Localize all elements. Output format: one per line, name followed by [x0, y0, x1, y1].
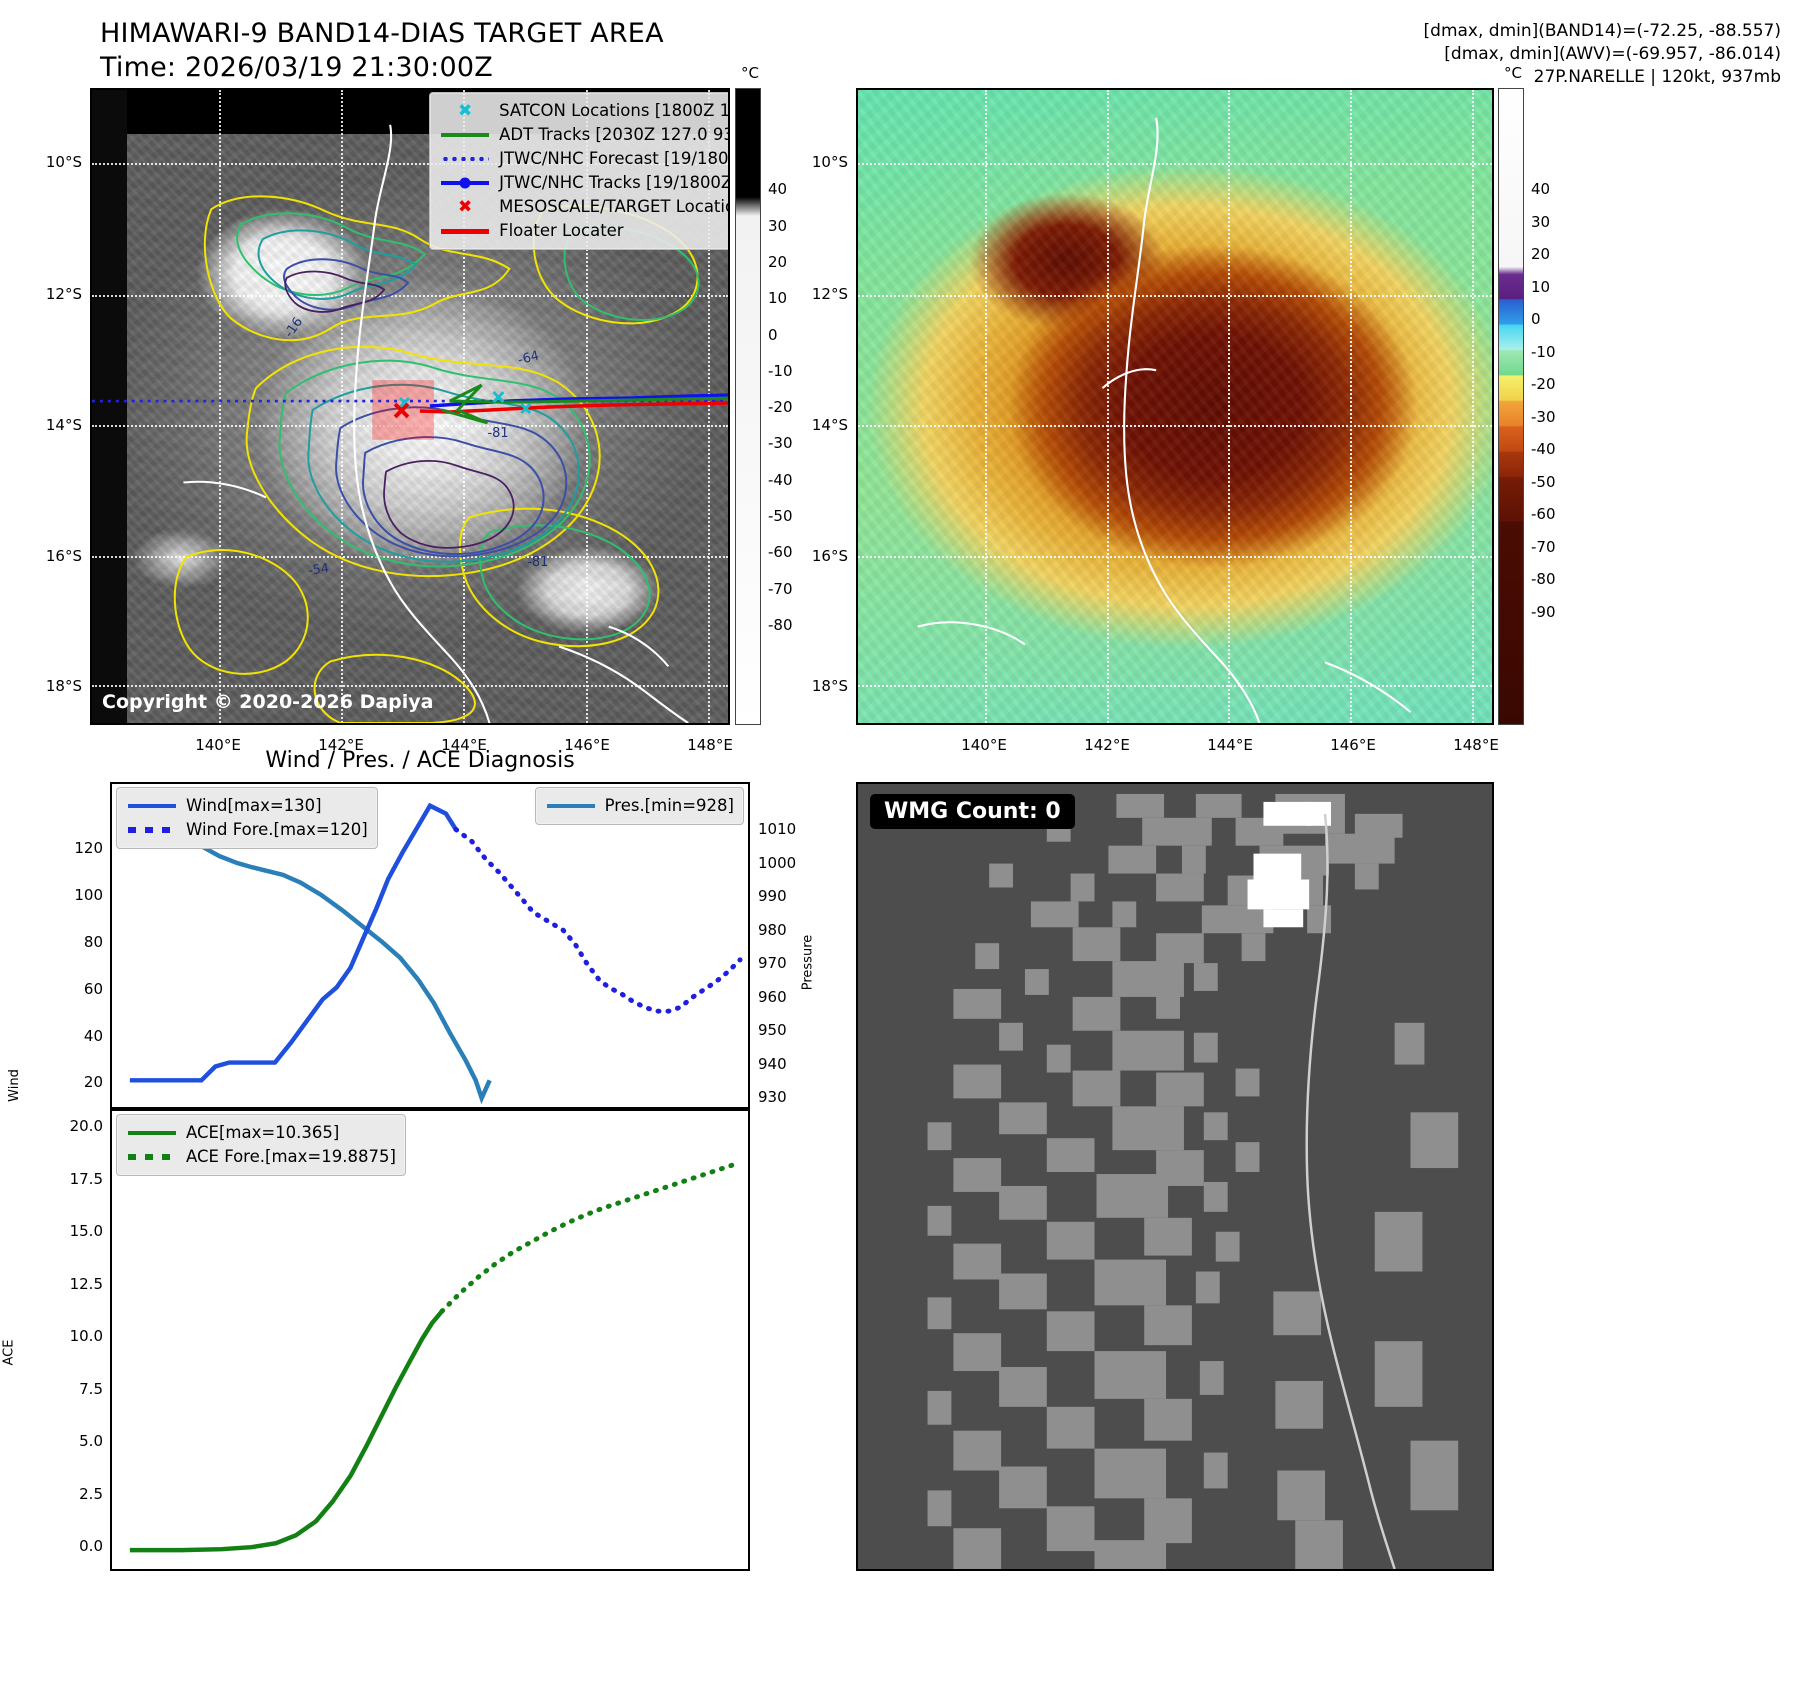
ir-colorbar[interactable]: 40 30 20 10 0 -10 -20 -30 -40 -50 -60 -7…	[735, 88, 761, 725]
ir-colorbar-tick: 0	[761, 326, 778, 344]
awv-colorbar-tick: -40	[1524, 440, 1556, 458]
svg-text:-81: -81	[527, 555, 548, 570]
awv-colorbar-tick: -50	[1524, 473, 1556, 491]
awv-colorbar-unit: °C	[1504, 64, 1522, 82]
x-marker-icon: ✖	[439, 103, 491, 120]
ir-colorbar-tick: -20	[761, 398, 793, 416]
legend-label: Wind Fore.[max=120]	[186, 818, 368, 842]
ir-lon-label: 140°E	[195, 736, 241, 754]
x-marker-icon: ✖	[439, 199, 491, 216]
solid-line-icon	[439, 229, 491, 234]
svg-text:-64: -64	[517, 348, 541, 368]
pressure-ytick: 1010	[758, 820, 796, 838]
legend-item-pressure[interactable]: Pres.[min=928]	[545, 794, 734, 818]
legend-item-ace-forecast[interactable]: ACE Fore.[max=19.8875]	[126, 1145, 396, 1169]
ir-colorbar-tick: 20	[761, 253, 787, 271]
pressure-series	[130, 816, 490, 1099]
wmg-panel[interactable]: WMG Count: 0	[856, 782, 1494, 1571]
legend-label: MESOSCALE/TARGET Location	[499, 195, 728, 219]
solid-line-icon	[126, 1131, 178, 1136]
awv-lat-label: 14°S	[786, 416, 848, 434]
awv-coastline-overlay	[858, 90, 1492, 723]
pressure-axis-title: Pressure	[800, 935, 815, 991]
ace-forecast-series	[442, 1163, 740, 1312]
ir-lon-label: 148°E	[687, 736, 733, 754]
legend-label: JTWC/NHC Tracks [19/1800Z]	[499, 171, 728, 195]
wind-ytick: 80	[48, 933, 103, 951]
ir-image: -64 -81 -16 -54 -81	[92, 90, 728, 723]
awv-lon-label: 146°E	[1330, 736, 1376, 754]
ace-plot	[112, 1111, 748, 1569]
awv-colorbar-tick: 20	[1524, 245, 1550, 263]
pressure-ytick: 960	[758, 988, 787, 1006]
awv-colorbar[interactable]: 40 30 20 10 0 -10 -20 -30 -40 -50 -60 -7…	[1498, 88, 1524, 725]
legend-label: ADT Tracks [2030Z 127.0 931.1]	[499, 123, 728, 147]
awv-colorbar-tick: -10	[1524, 343, 1556, 361]
awv-colorbar-tick: -20	[1524, 375, 1556, 393]
header-stat-awv: [dmax, dmin](AWV)=(-69.957, -86.014)	[1081, 43, 1781, 66]
wind-ytick: 20	[48, 1073, 103, 1091]
awv-lat-label: 16°S	[786, 547, 848, 565]
ir-colorbar-tick: -30	[761, 434, 793, 452]
wind-ytick: 100	[48, 886, 103, 904]
awv-lat-label: 12°S	[786, 285, 848, 303]
wind-ytick: 60	[48, 980, 103, 998]
wind-axis-title: Wind	[7, 1069, 22, 1102]
awv-colorbar-tick: -30	[1524, 408, 1556, 426]
ace-chart[interactable]: ACE[max=10.365] ACE Fore.[max=19.8875]	[110, 1109, 750, 1571]
legend-label: Wind[max=130]	[186, 794, 322, 818]
legend-item-adt[interactable]: ADT Tracks [2030Z 127.0 931.1]	[439, 123, 728, 147]
copyright-text: Copyright © 2020-2026 Dapiya	[102, 691, 433, 713]
ir-lat-label: 12°S	[20, 285, 82, 303]
solid-line-icon	[545, 804, 597, 809]
solid-line-icon	[439, 133, 491, 138]
legend-item-mesoscale[interactable]: ✖ MESOSCALE/TARGET Location	[439, 195, 728, 219]
ace-ytick: 15.0	[38, 1222, 103, 1240]
wmg-image: WMG Count: 0	[858, 784, 1492, 1569]
ace-series	[130, 1311, 442, 1550]
legend-item-floater[interactable]: Floater Locater	[439, 219, 728, 243]
legend-label: SATCON Locations [1800Z 135 929]	[499, 99, 728, 123]
awv-satellite-panel[interactable]	[856, 88, 1494, 725]
dotted-line-icon	[439, 157, 491, 161]
ace-ytick: 5.0	[38, 1432, 103, 1450]
ir-lat-label: 10°S	[20, 153, 82, 171]
pressure-ytick: 980	[758, 921, 787, 939]
pressure-legend[interactable]: Pres.[min=928]	[535, 787, 744, 825]
wind-forecast-series	[456, 829, 740, 1011]
awv-colorbar-tick: -60	[1524, 505, 1556, 523]
awv-lon-label: 148°E	[1453, 736, 1499, 754]
ace-legend[interactable]: ACE[max=10.365] ACE Fore.[max=19.8875]	[116, 1114, 406, 1176]
dotted-line-icon	[126, 1154, 178, 1160]
ir-colorbar-unit: °C	[741, 64, 759, 82]
ir-colorbar-tick: 10	[761, 289, 787, 307]
ir-satellite-panel[interactable]: -64 -81 -16 -54 -81	[90, 88, 730, 725]
awv-colorbar-tick: 30	[1524, 213, 1550, 231]
ir-colorbar-tick: -40	[761, 471, 793, 489]
dotted-line-icon	[126, 827, 178, 833]
legend-label: JTWC/NHC Forecast [19/1800Z]	[499, 147, 728, 171]
legend-item-wind-forecast[interactable]: Wind Fore.[max=120]	[126, 818, 368, 842]
legend-label: Floater Locater	[499, 219, 624, 243]
awv-image	[858, 90, 1492, 723]
pressure-ytick: 950	[758, 1021, 787, 1039]
legend-item-satcon[interactable]: ✖ SATCON Locations [1800Z 135 929]	[439, 99, 728, 123]
pressure-ytick: 930	[758, 1088, 787, 1106]
awv-colorbar-tick: -70	[1524, 538, 1556, 556]
ace-ytick: 0.0	[38, 1537, 103, 1555]
svg-text:-54: -54	[307, 561, 330, 579]
solid-line-icon	[126, 804, 178, 809]
line-with-dot-icon	[439, 181, 491, 185]
svg-text:-81: -81	[488, 426, 509, 441]
ir-colorbar-tick: 30	[761, 217, 787, 235]
ir-colorbar-tick: -80	[761, 616, 793, 634]
ir-colorbar-tick: -70	[761, 580, 793, 598]
wmg-cells	[858, 784, 1492, 1569]
awv-colorbar-tick: -80	[1524, 570, 1556, 588]
awv-colorbar-tick: 0	[1524, 310, 1541, 328]
awv-colorbar-tick: 10	[1524, 278, 1550, 296]
awv-lon-label: 144°E	[1207, 736, 1253, 754]
pressure-ytick: 1000	[758, 854, 796, 872]
awv-lon-label: 140°E	[961, 736, 1007, 754]
ir-legend[interactable]: ✖ SATCON Locations [1800Z 135 929] ADT T…	[429, 92, 728, 250]
ace-ytick: 2.5	[38, 1485, 103, 1503]
svg-text:-16: -16	[282, 315, 306, 341]
awv-lat-label: 10°S	[786, 153, 848, 171]
ir-colorbar-tick: -50	[761, 507, 793, 525]
pressure-ytick: 940	[758, 1055, 787, 1073]
wind-ytick: 120	[48, 839, 103, 857]
header-stats: [dmax, dmin](BAND14)=(-72.25, -88.557) […	[1081, 20, 1781, 89]
ace-ytick: 10.0	[38, 1327, 103, 1345]
awv-colorbar-tick: 40	[1524, 180, 1550, 198]
wind-ytick: 40	[48, 1027, 103, 1045]
legend-item-jtwc-forecast[interactable]: JTWC/NHC Forecast [19/1800Z]	[439, 147, 728, 171]
legend-label: ACE Fore.[max=19.8875]	[186, 1145, 396, 1169]
ace-ytick: 20.0	[38, 1117, 103, 1135]
awv-lat-label: 18°S	[786, 677, 848, 695]
legend-item-wind[interactable]: Wind[max=130]	[126, 794, 368, 818]
awv-colorbar-tick: -90	[1524, 603, 1556, 621]
ir-lat-label: 14°S	[20, 416, 82, 434]
ir-lat-label: 18°S	[20, 677, 82, 695]
wmg-count-badge: WMG Count: 0	[870, 794, 1075, 829]
page-title-line2: Time: 2026/03/19 21:30:00Z	[100, 52, 493, 83]
ir-lat-label: 16°S	[20, 547, 82, 565]
awv-lon-label: 142°E	[1084, 736, 1130, 754]
legend-label: ACE[max=10.365]	[186, 1121, 339, 1145]
ace-axis-title: ACE	[1, 1340, 16, 1366]
ace-ytick: 17.5	[38, 1170, 103, 1188]
ir-colorbar-tick: 40	[761, 180, 787, 198]
header-storm-info: 27P.NARELLE | 120kt, 937mb	[1081, 66, 1781, 89]
wind-pressure-chart[interactable]: Wind[max=130] Wind Fore.[max=120] Pres.[…	[110, 782, 750, 1109]
ace-ytick: 12.5	[38, 1275, 103, 1293]
wind-legend[interactable]: Wind[max=130] Wind Fore.[max=120]	[116, 787, 378, 849]
diagnosis-panel-title: Wind / Pres. / ACE Diagnosis	[265, 748, 574, 773]
pressure-ytick: 970	[758, 954, 787, 972]
ir-colorbar-tick: -10	[761, 362, 793, 380]
legend-item-ace[interactable]: ACE[max=10.365]	[126, 1121, 396, 1145]
pressure-ytick: 990	[758, 887, 787, 905]
header-stat-band14: [dmax, dmin](BAND14)=(-72.25, -88.557)	[1081, 20, 1781, 43]
ace-ytick: 7.5	[38, 1380, 103, 1398]
legend-item-jtwc-tracks[interactable]: JTWC/NHC Tracks [19/1800Z]	[439, 171, 728, 195]
page-title-line1: HIMAWARI-9 BAND14-DIAS TARGET AREA	[100, 18, 664, 49]
legend-label: Pres.[min=928]	[605, 794, 734, 818]
